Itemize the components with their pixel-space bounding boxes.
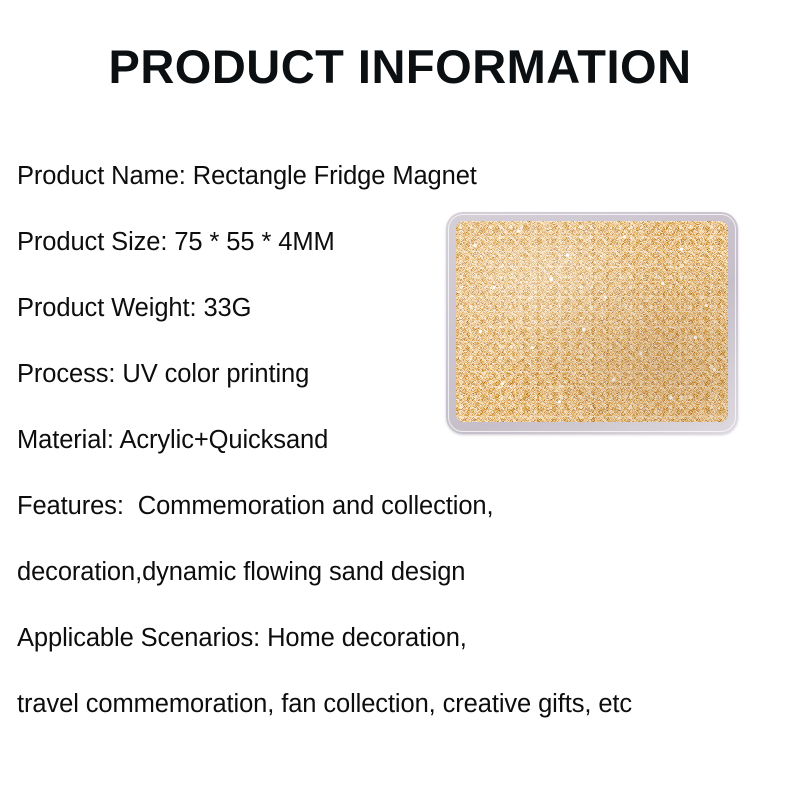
spec-line-applicable-scenarios-1: Applicable Scenarios: Home decoration,	[17, 605, 787, 671]
magnet-glitter-window	[456, 221, 728, 422]
spec-line-product-name: Product Name: Rectangle Fridge Magnet	[17, 143, 787, 209]
spec-line-applicable-scenarios-2: travel commemoration, fan collection, cr…	[17, 671, 787, 737]
spec-line-features-2: decoration,dynamic flowing sand design	[17, 539, 787, 605]
spec-line-features-1: Features: Commemoration and collection,	[17, 473, 787, 539]
product-photo	[446, 212, 738, 434]
product-information-page: PRODUCT INFORMATION Product Name: Rectan…	[0, 0, 800, 800]
page-title: PRODUCT INFORMATION	[0, 38, 800, 96]
magnet-acrylic-frame	[446, 212, 738, 434]
